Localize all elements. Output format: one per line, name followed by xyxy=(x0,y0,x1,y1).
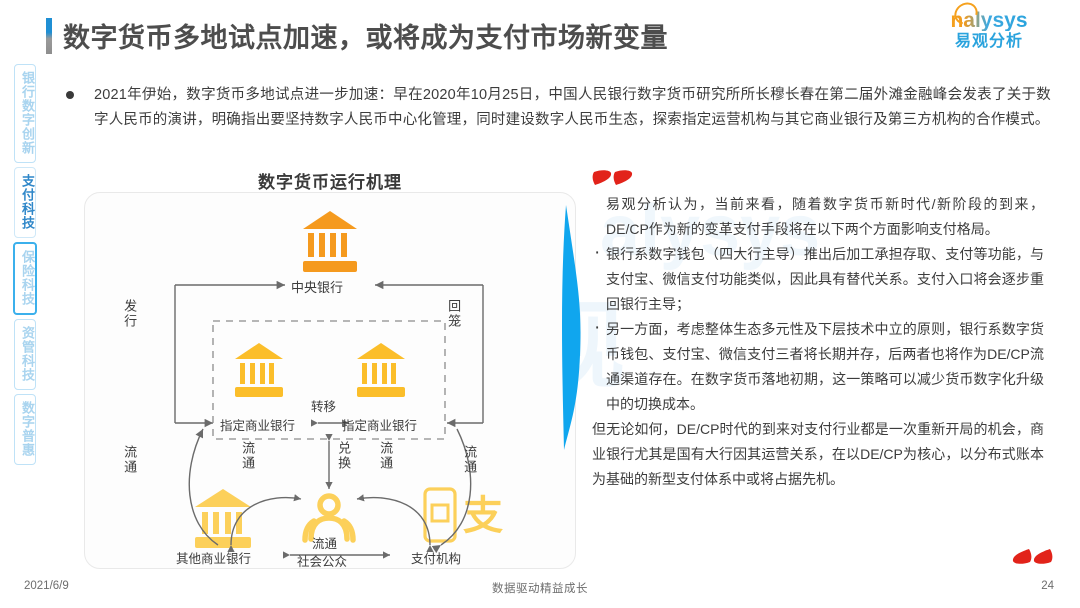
diagram-node-other-bank: 其他商业银行 xyxy=(176,548,251,567)
diagram-edge-withdraw: 回笼 xyxy=(443,299,463,329)
diagram-node-designated-bank-right: 指定商业银行 xyxy=(342,415,417,434)
analysis-bullet-1: 银行系数字钱包（四大行主导）推出后加工承担存取、支付等功能，与支付宝、微信支付功… xyxy=(592,242,1044,317)
page-title: 数字货币多地试点加速，或将成为支付市场新变量 xyxy=(46,16,668,55)
diagram-node-payment-org: 支付机构 xyxy=(411,548,461,567)
diagram-node-public: 社会公众 xyxy=(297,551,347,569)
footer-page-number: 24 xyxy=(1041,580,1054,592)
diagram-edge-circulate-public-left: 流通 xyxy=(237,441,257,471)
diagram-edge-circulate-bottom: 流通 xyxy=(312,533,337,552)
title-accent-bar xyxy=(46,18,52,54)
brand-logo: nalysys 易观分析 xyxy=(924,10,1054,50)
quotation-mark-icon xyxy=(1010,544,1054,566)
bank-building-icon xyxy=(357,343,405,397)
analysis-panel: 易观分析认为，当前来看，随着数字货币新时代/新阶段的到来，DE/CP作为新的变革… xyxy=(592,192,1044,492)
diagram-edge-transfer: 转移 xyxy=(311,396,336,415)
diagram-edge-circulate-right: 流通 xyxy=(459,445,479,475)
sidebar-item-digital-inclusive-finance[interactable]: 数字普惠 xyxy=(14,394,36,465)
bank-building-icon xyxy=(235,343,283,397)
diagram-node-designated-bank-left: 指定商业银行 xyxy=(220,415,295,434)
diagram-title: 数字货币运行机理 xyxy=(85,168,575,193)
logo-wordmark: nalysys xyxy=(950,10,1027,31)
page-title-text: 数字货币多地试点加速，或将成为支付市场新变量 xyxy=(63,16,668,55)
intro-paragraph-text: 2021年伊始，数字货币多地试点进一步加速：早在2020年10月25日，中国人民… xyxy=(94,83,1051,133)
footer: 2021/6/9 数据驱动精益成长 24 xyxy=(0,580,1080,600)
sidebar-item-insurance-tech[interactable]: 保险科技 xyxy=(13,242,37,315)
sidebar-item-bank-digital-innovation[interactable]: 银行数字创新 xyxy=(14,64,36,163)
bullet-dot-icon xyxy=(66,91,74,99)
sidebar-item-asset-management-tech[interactable]: 资管科技 xyxy=(14,319,36,390)
bank-building-icon xyxy=(303,211,357,272)
diagram-edge-issue: 发行 xyxy=(119,299,139,329)
diagram-card: 支 中央银行 指定商业银行 指定商业银行 转移 兑换 发行 回笼 流通 流通 流… xyxy=(84,192,576,569)
diagram-edge-circulate-left: 流通 xyxy=(119,445,139,475)
blue-lens-divider xyxy=(556,205,586,450)
diagram-edge-exchange: 兑换 xyxy=(333,441,353,471)
analysis-conclusion: 但无论如何，DE/CP时代的到来对支付行业都是一次重新开局的机会，商业银行尤其是… xyxy=(592,417,1044,492)
diagram-edge-circulate-public-right: 流通 xyxy=(375,441,395,471)
logo-chinese-name: 易观分析 xyxy=(924,34,1054,50)
intro-paragraph: 2021年伊始，数字货币多地试点进一步加速：早在2020年10月25日，中国人民… xyxy=(66,83,1051,133)
mobile-pay-icon: 支 xyxy=(425,489,503,541)
diagram-node-central-bank: 中央银行 xyxy=(291,277,343,296)
analysis-intro: 易观分析认为，当前来看，随着数字货币新时代/新阶段的到来，DE/CP作为新的变革… xyxy=(592,192,1044,242)
sidebar-item-payment-tech[interactable]: 支付科技 xyxy=(14,167,36,238)
quotation-mark-icon xyxy=(592,168,636,190)
sidebar-nav[interactable]: 银行数字创新 支付科技 保险科技 资管科技 数字普惠 xyxy=(6,64,44,465)
diagram-svg: 支 xyxy=(85,193,575,568)
footer-tagline: 数据驱动精益成长 xyxy=(0,580,1080,596)
analysis-bullet-2: 另一方面，考虑整体生态多元性及下层技术中立的原则，银行系数字货币钱包、支付宝、微… xyxy=(592,317,1044,417)
bank-building-icon xyxy=(195,489,251,548)
